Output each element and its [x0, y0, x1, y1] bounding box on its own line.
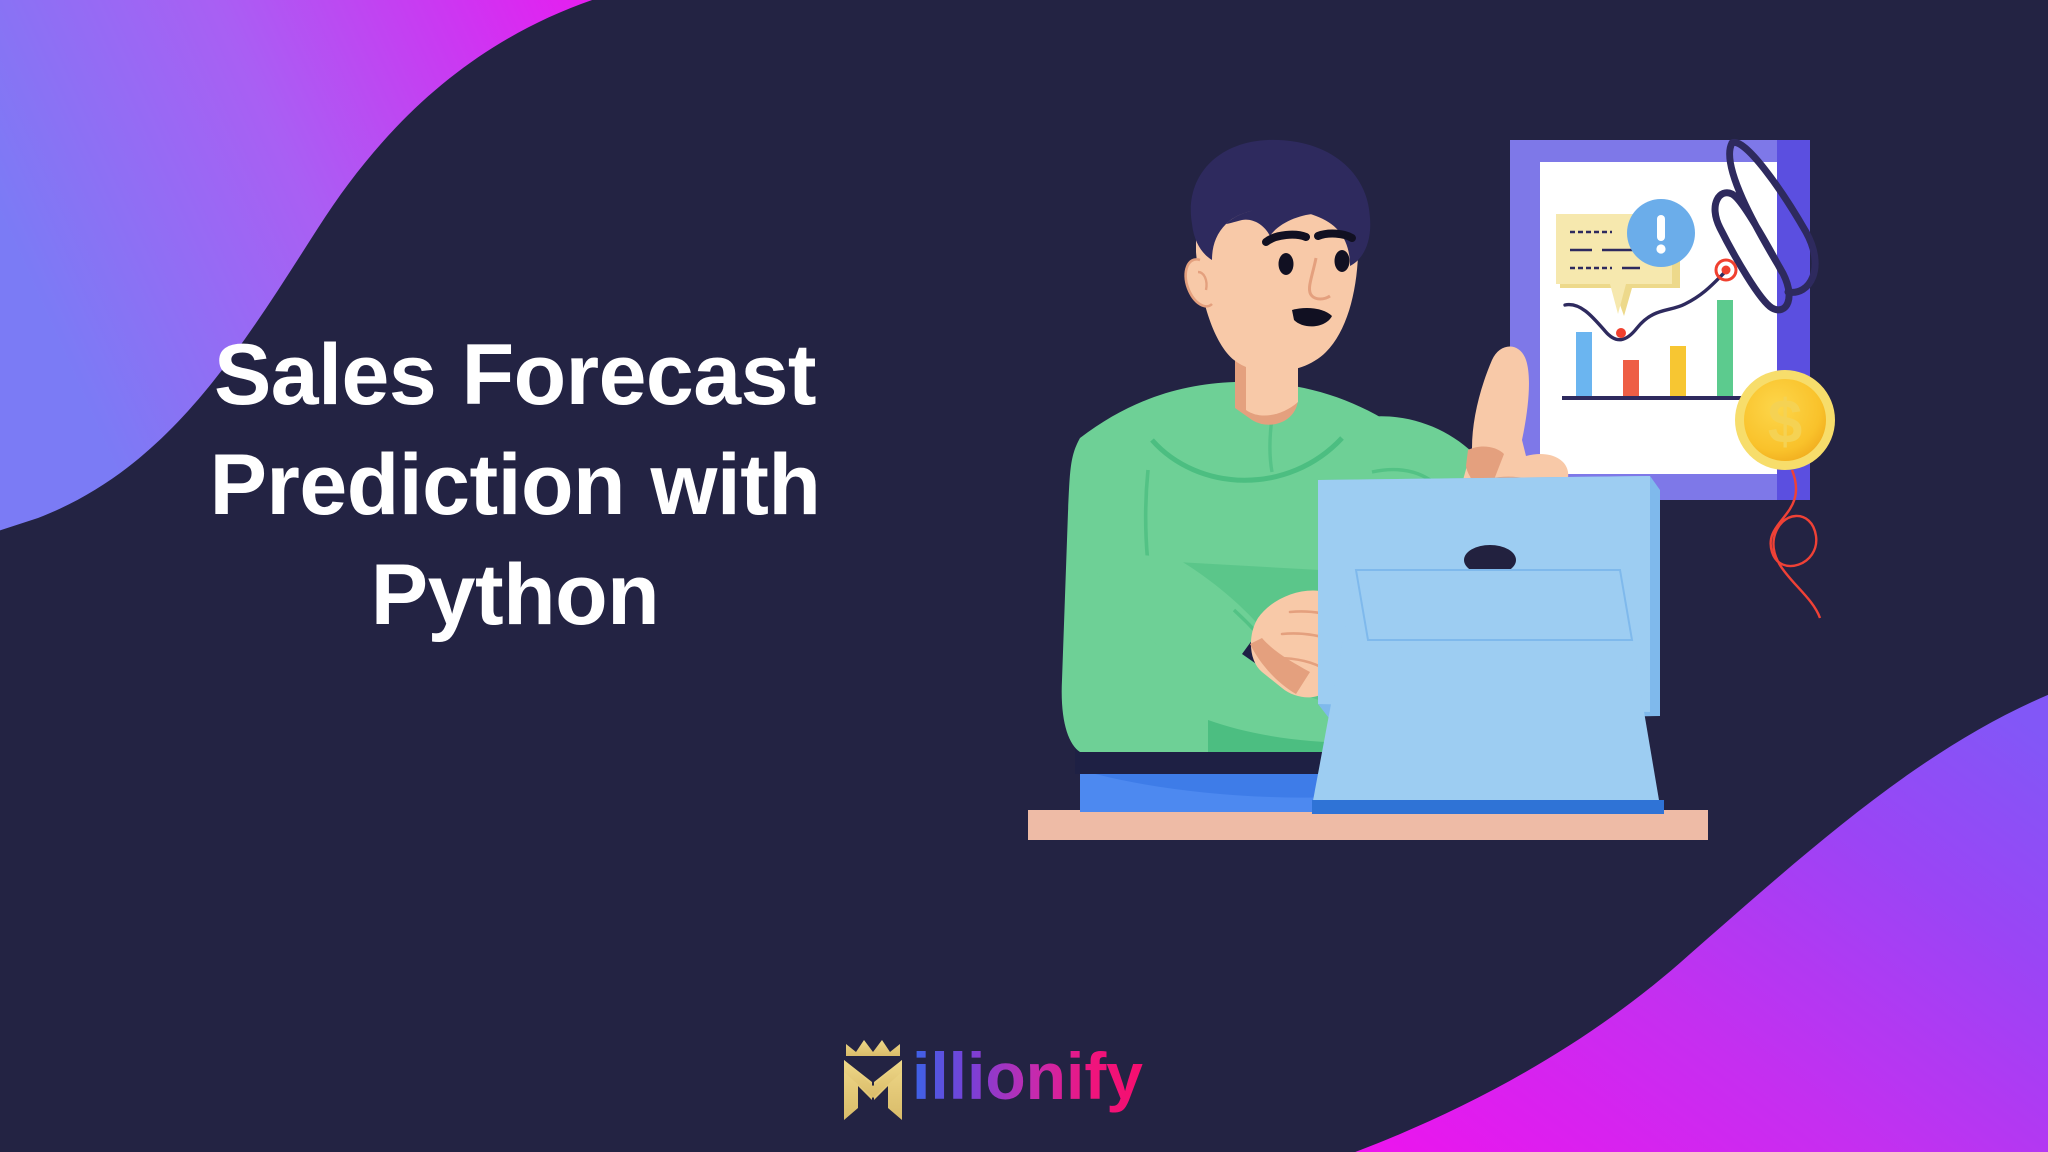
- chart-bar-3: [1670, 346, 1686, 396]
- page-title: Sales Forecast Prediction with Python: [100, 320, 930, 650]
- crown-m-icon: [836, 1038, 910, 1122]
- desk-surface: [1028, 810, 1708, 840]
- chart-bar-2: [1623, 360, 1639, 396]
- svg-text:$: $: [1768, 388, 1802, 457]
- trend-high-marker: [1722, 266, 1731, 275]
- logo-word-text: illionify: [912, 1042, 1143, 1113]
- chart-bar-4: [1717, 300, 1733, 396]
- hero-title-block: Sales Forecast Prediction with Python: [100, 320, 930, 650]
- analyst-illustration: $: [1020, 120, 2040, 880]
- millionify-logo[interactable]: illionify: [0, 1038, 2048, 1122]
- trend-low-marker: [1616, 328, 1626, 338]
- dollar-coin-icon: $: [1735, 370, 1835, 470]
- chart-bar-1: [1576, 332, 1592, 396]
- millionify-wordmark: illionify: [912, 1042, 1212, 1118]
- alert-badge-icon: [1627, 199, 1695, 267]
- poster-canvas: Sales Forecast Prediction with Python: [0, 0, 2048, 1152]
- laptop: [1312, 476, 1664, 814]
